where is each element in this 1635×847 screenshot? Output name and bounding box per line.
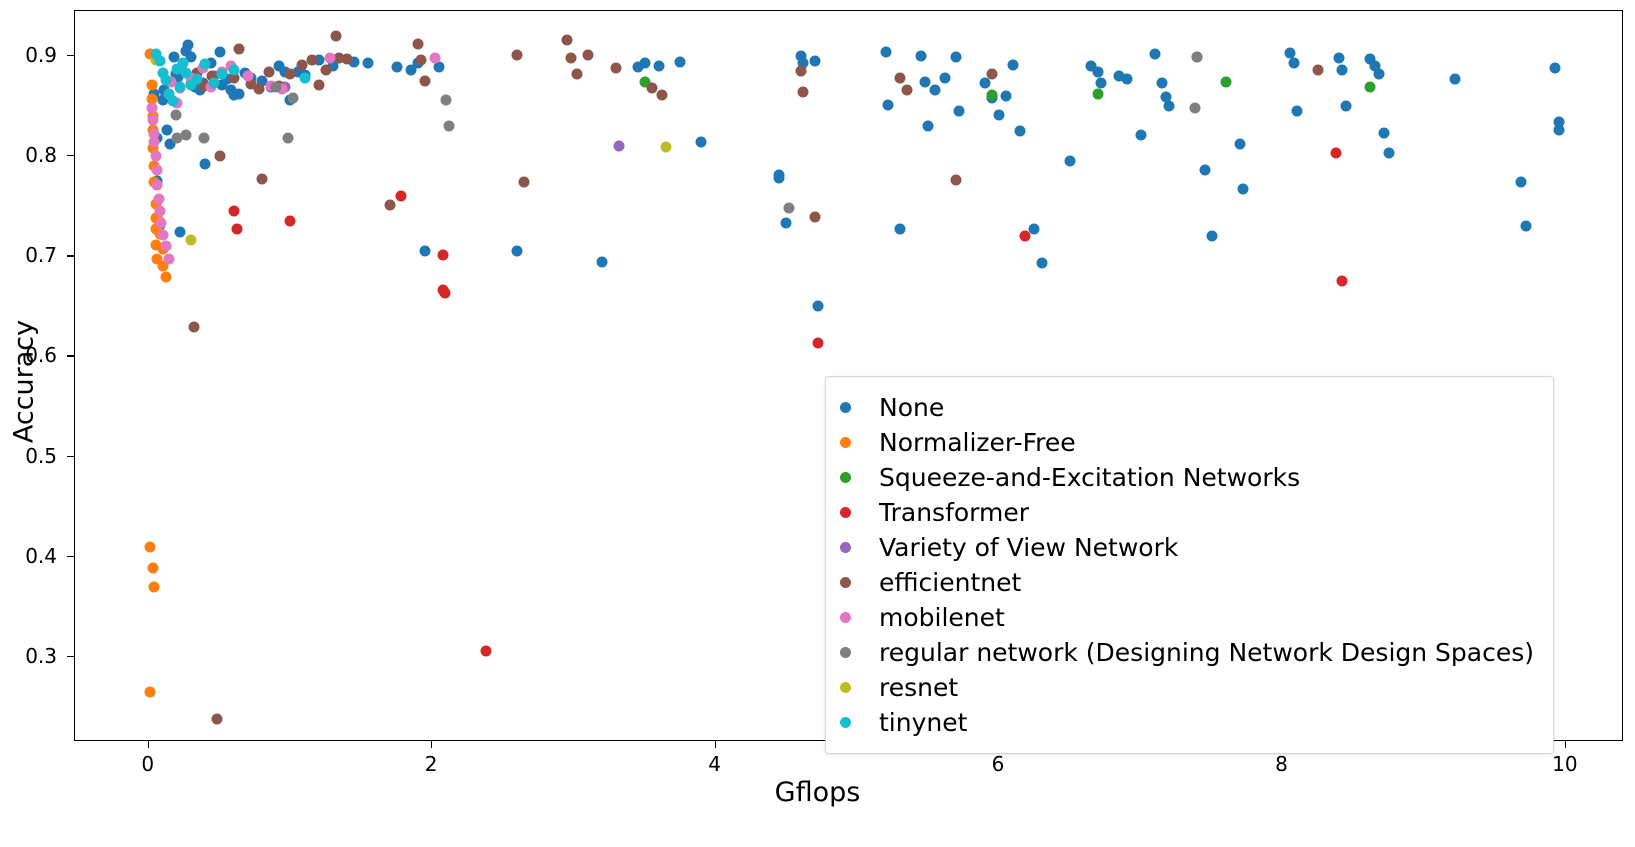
data-point — [156, 218, 167, 229]
data-point — [146, 80, 157, 91]
data-point — [894, 224, 905, 235]
x-tick — [148, 741, 149, 748]
data-point — [288, 93, 299, 104]
data-point — [986, 69, 997, 80]
data-point — [152, 165, 163, 176]
data-point — [157, 230, 168, 241]
x-tick — [431, 741, 432, 748]
data-point — [1029, 224, 1040, 235]
data-point — [784, 203, 795, 214]
data-point — [150, 151, 161, 162]
data-point — [1015, 126, 1026, 137]
data-point — [774, 173, 785, 184]
data-point — [180, 68, 191, 79]
data-point — [299, 73, 310, 84]
data-point — [583, 50, 594, 61]
data-point — [147, 115, 158, 126]
data-point — [282, 133, 293, 144]
data-point — [930, 85, 941, 96]
legend-item-transformer[interactable]: Transformer — [840, 495, 1534, 530]
data-point — [566, 53, 577, 64]
data-point — [1199, 165, 1210, 176]
data-point — [420, 246, 431, 257]
data-point — [145, 686, 156, 697]
data-point — [147, 562, 158, 573]
data-point — [809, 212, 820, 223]
y-tick-label: 0.9 — [25, 43, 57, 67]
data-point — [145, 541, 156, 552]
legend-item-mobilenet[interactable]: mobilenet — [840, 600, 1534, 635]
y-tick — [67, 556, 74, 557]
legend-item-regular-network-designing-network-design-spaces[interactable]: regular network (Designing Network Desig… — [840, 635, 1534, 670]
data-point — [1336, 276, 1347, 287]
data-point — [228, 206, 239, 217]
data-point — [231, 224, 242, 235]
data-point — [170, 110, 181, 121]
data-point — [920, 77, 931, 88]
data-point — [155, 56, 166, 67]
data-point — [1192, 52, 1203, 63]
data-point — [1156, 78, 1167, 89]
data-point — [198, 133, 209, 144]
data-point — [923, 121, 934, 132]
data-point — [163, 254, 174, 265]
x-tick-label: 4 — [708, 752, 721, 776]
data-point — [519, 177, 530, 188]
data-point — [191, 74, 202, 85]
data-point — [639, 58, 650, 69]
legend-item-normalizer-free[interactable]: Normalizer-Free — [840, 425, 1534, 460]
legend-label: Transformer — [879, 500, 1029, 525]
x-tick-label: 2 — [425, 752, 438, 776]
data-point — [257, 174, 268, 185]
data-point — [211, 713, 222, 724]
data-point — [271, 82, 282, 93]
data-point — [1365, 82, 1376, 93]
data-point — [1036, 258, 1047, 269]
y-tick-label: 0.3 — [25, 644, 57, 668]
data-point — [781, 218, 792, 229]
legend-label: efficientnet — [879, 570, 1021, 595]
data-point — [242, 71, 253, 82]
data-point — [395, 191, 406, 202]
legend-item-variety-of-view-network[interactable]: Variety of View Network — [840, 530, 1534, 565]
legend-label: tinynet — [879, 710, 967, 735]
data-point — [412, 39, 423, 50]
data-point — [660, 142, 671, 153]
data-point — [798, 87, 809, 98]
data-point — [561, 35, 572, 46]
data-point — [174, 227, 185, 238]
legend-marker-icon — [840, 507, 851, 518]
data-point — [180, 130, 191, 141]
legend-item-efficientnet[interactable]: efficientnet — [840, 565, 1534, 600]
y-tick — [67, 255, 74, 256]
legend-item-squeeze-and-excitation-networks[interactable]: Squeeze-and-Excitation Networks — [840, 460, 1534, 495]
data-point — [152, 180, 163, 191]
data-point — [330, 31, 341, 42]
data-point — [1064, 156, 1075, 167]
data-point — [167, 96, 178, 107]
data-point — [812, 338, 823, 349]
legend-marker-icon — [840, 717, 851, 728]
data-point — [285, 69, 296, 80]
legend-label: mobilenet — [879, 605, 1005, 630]
data-point — [1121, 74, 1132, 85]
data-point — [153, 194, 164, 205]
legend-marker-icon — [840, 472, 851, 483]
data-point — [208, 78, 219, 89]
data-point — [228, 65, 239, 76]
data-point — [1220, 77, 1231, 88]
data-point — [951, 175, 962, 186]
legend-label: Variety of View Network — [879, 535, 1178, 560]
data-point — [1515, 177, 1526, 188]
data-point — [342, 54, 353, 65]
legend-marker-icon — [840, 542, 851, 553]
data-point — [149, 581, 160, 592]
data-point — [384, 200, 395, 211]
data-point — [1549, 63, 1560, 74]
data-point — [994, 110, 1005, 121]
x-tick — [1565, 741, 1566, 748]
data-point — [1093, 89, 1104, 100]
data-point — [160, 75, 171, 86]
data-point — [646, 83, 657, 94]
data-point — [512, 50, 523, 61]
x-tick-label: 8 — [1275, 752, 1288, 776]
data-point — [214, 47, 225, 58]
data-point — [285, 216, 296, 227]
data-point — [675, 57, 686, 68]
legend-item-resnet[interactable]: resnet — [840, 670, 1534, 705]
data-point — [214, 151, 225, 162]
data-point — [656, 90, 667, 101]
data-point — [883, 100, 894, 111]
legend: NoneNormalizer-FreeSqueeze-and-Excitatio… — [825, 376, 1554, 754]
data-point — [420, 76, 431, 87]
data-point — [200, 159, 211, 170]
data-point — [1373, 69, 1384, 80]
x-axis-label: Gflops — [0, 777, 1635, 808]
data-point — [1341, 101, 1352, 112]
y-tick — [67, 456, 74, 457]
data-point — [438, 250, 449, 261]
data-point — [1450, 74, 1461, 85]
data-point — [189, 322, 200, 333]
y-axis-label: Accuracy — [9, 162, 40, 602]
data-point — [480, 645, 491, 656]
data-point — [1008, 60, 1019, 71]
data-point — [901, 85, 912, 96]
data-point — [325, 53, 336, 64]
data-point — [174, 82, 185, 93]
legend-label: Squeeze-and-Excitation Networks — [879, 465, 1300, 490]
legend-label: regular network (Designing Network Desig… — [879, 640, 1534, 665]
data-point — [809, 56, 820, 67]
data-point — [1135, 130, 1146, 141]
data-point — [363, 58, 374, 69]
y-tick — [67, 155, 74, 156]
data-point — [812, 301, 823, 312]
legend-label: resnet — [879, 675, 958, 700]
data-point — [1189, 103, 1200, 114]
x-tick — [715, 741, 716, 748]
legend-label: Normalizer-Free — [879, 430, 1076, 455]
data-point — [880, 47, 891, 58]
data-point — [441, 95, 452, 106]
data-point — [186, 235, 197, 246]
legend-marker-icon — [840, 682, 851, 693]
legend-marker-icon — [840, 612, 851, 623]
data-point — [1383, 148, 1394, 159]
data-point — [429, 53, 440, 64]
data-point — [1096, 78, 1107, 89]
data-point — [1288, 58, 1299, 69]
data-point — [444, 121, 455, 132]
data-point — [1001, 91, 1012, 102]
data-point — [391, 62, 402, 73]
legend-marker-icon — [840, 647, 851, 658]
data-point — [1164, 101, 1175, 112]
data-point — [160, 241, 171, 252]
data-point — [1312, 65, 1323, 76]
data-point — [415, 55, 426, 66]
data-point — [986, 90, 997, 101]
data-point — [1336, 65, 1347, 76]
data-point — [1206, 231, 1217, 242]
data-point — [795, 66, 806, 77]
data-point — [200, 59, 211, 70]
y-tick — [67, 656, 74, 657]
data-point — [146, 103, 157, 114]
data-point — [162, 125, 173, 136]
data-point — [155, 206, 166, 217]
data-point — [313, 80, 324, 91]
data-point — [264, 67, 275, 78]
legend-item-none[interactable]: None — [840, 390, 1534, 425]
data-point — [1331, 148, 1342, 159]
data-point — [234, 89, 245, 100]
scatter-chart-figure: 0246810 0.30.40.50.60.70.80.9 Gflops Acc… — [0, 0, 1635, 847]
data-point — [439, 288, 450, 299]
x-tick-label: 6 — [992, 752, 1005, 776]
y-tick — [67, 355, 74, 356]
data-point — [234, 44, 245, 55]
data-point — [1334, 53, 1345, 64]
legend-item-tinynet[interactable]: tinynet — [840, 705, 1534, 740]
data-point — [306, 55, 317, 66]
data-point — [149, 137, 160, 148]
data-point — [1291, 106, 1302, 117]
data-point — [1237, 184, 1248, 195]
x-tick-label: 0 — [141, 752, 154, 776]
data-point — [696, 137, 707, 148]
y-tick — [67, 55, 74, 56]
data-point — [1019, 231, 1030, 242]
data-point — [951, 52, 962, 63]
legend-marker-icon — [840, 577, 851, 588]
legend-label: None — [879, 395, 944, 420]
data-point — [597, 257, 608, 268]
data-point — [183, 40, 194, 51]
data-point — [979, 78, 990, 89]
data-point — [614, 141, 625, 152]
data-point — [1553, 125, 1564, 136]
data-point — [571, 69, 582, 80]
data-point — [1093, 67, 1104, 78]
data-point — [160, 272, 171, 283]
data-point — [940, 73, 951, 84]
data-point — [1521, 221, 1532, 232]
data-point — [894, 73, 905, 84]
data-point — [954, 106, 965, 117]
x-tick-label: 10 — [1552, 752, 1577, 776]
data-point — [1234, 139, 1245, 150]
legend-marker-icon — [840, 402, 851, 413]
legend-marker-icon — [840, 437, 851, 448]
data-point — [916, 51, 927, 62]
data-point — [1379, 128, 1390, 139]
data-point — [611, 63, 622, 74]
data-point — [653, 61, 664, 72]
data-point — [254, 84, 265, 95]
data-point — [320, 65, 331, 76]
data-point — [217, 69, 228, 80]
data-point — [1149, 49, 1160, 60]
data-point — [512, 246, 523, 257]
